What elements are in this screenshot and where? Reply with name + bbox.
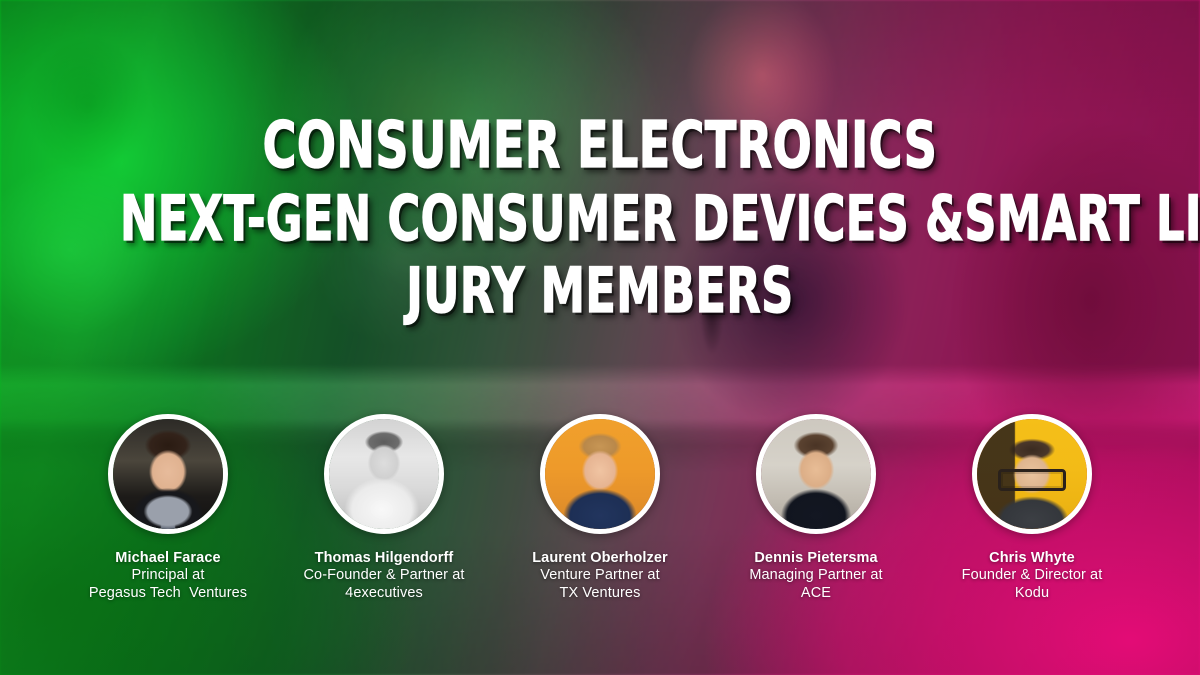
jury-member-text: Thomas Hilgendorff Co-Founder & Partner … — [303, 550, 464, 602]
jury-member-name: Chris Whyte — [962, 550, 1103, 567]
jury-member-text: Laurent Oberholzer Venture Partner at TX… — [532, 550, 668, 602]
jury-member-name: Thomas Hilgendorff — [303, 550, 464, 567]
avatar-chris-whyte — [972, 414, 1092, 534]
title-line-jury: JURY MEMBERS — [120, 261, 1080, 321]
jury-member-role: Venture Partner at — [532, 567, 668, 584]
jury-member-card: Laurent Oberholzer Venture Partner at TX… — [494, 414, 706, 602]
jury-member-text: Chris Whyte Founder & Director at Kodu — [962, 550, 1103, 602]
jury-members-poster: CONSUMER ELECTRONICS NEXT-GEN CONSUMER D… — [0, 0, 1200, 675]
jury-member-org: Pegasus Tech Ventures — [89, 585, 247, 602]
jury-member-role: Founder & Director at — [962, 567, 1103, 584]
jury-members-row: Michael Farace Principal at Pegasus Tech… — [0, 414, 1200, 602]
jury-member-org: ACE — [749, 585, 882, 602]
jury-member-name: Laurent Oberholzer — [532, 550, 668, 567]
jury-member-name: Dennis Pietersma — [749, 550, 882, 567]
jury-member-role: Principal at — [89, 567, 247, 584]
jury-member-card: Chris Whyte Founder & Director at Kodu — [926, 414, 1138, 602]
avatar-photo — [761, 419, 871, 529]
title-line-category: CONSUMER ELECTRONICS — [120, 116, 1080, 177]
jury-member-card: Michael Farace Principal at Pegasus Tech… — [62, 414, 274, 602]
jury-member-name: Michael Farace — [89, 550, 247, 567]
jury-member-role: Co-Founder & Partner at — [303, 567, 464, 584]
jury-member-text: Dennis Pietersma Managing Partner at ACE — [749, 550, 882, 602]
poster-title: CONSUMER ELECTRONICS NEXT-GEN CONSUMER D… — [0, 116, 1200, 320]
jury-member-card: Dennis Pietersma Managing Partner at ACE — [710, 414, 922, 602]
jury-member-card: Thomas Hilgendorff Co-Founder & Partner … — [278, 414, 490, 602]
avatar-photo — [977, 419, 1087, 529]
avatar-photo — [113, 419, 223, 529]
jury-member-text: Michael Farace Principal at Pegasus Tech… — [89, 550, 247, 602]
jury-member-org: 4executives — [303, 585, 464, 602]
avatar-photo — [329, 419, 439, 529]
avatar-thomas-hilgendorff — [324, 414, 444, 534]
jury-member-org: Kodu — [962, 585, 1103, 602]
jury-member-org: TX Ventures — [532, 585, 668, 602]
avatar-michael-farace — [108, 414, 228, 534]
jury-member-role: Managing Partner at — [749, 567, 882, 584]
title-line-subject: NEXT-GEN CONSUMER DEVICES &SMART LIVING — [120, 189, 1080, 249]
avatar-laurent-oberholzer — [540, 414, 660, 534]
avatar-dennis-pietersma — [756, 414, 876, 534]
avatar-photo — [545, 419, 655, 529]
